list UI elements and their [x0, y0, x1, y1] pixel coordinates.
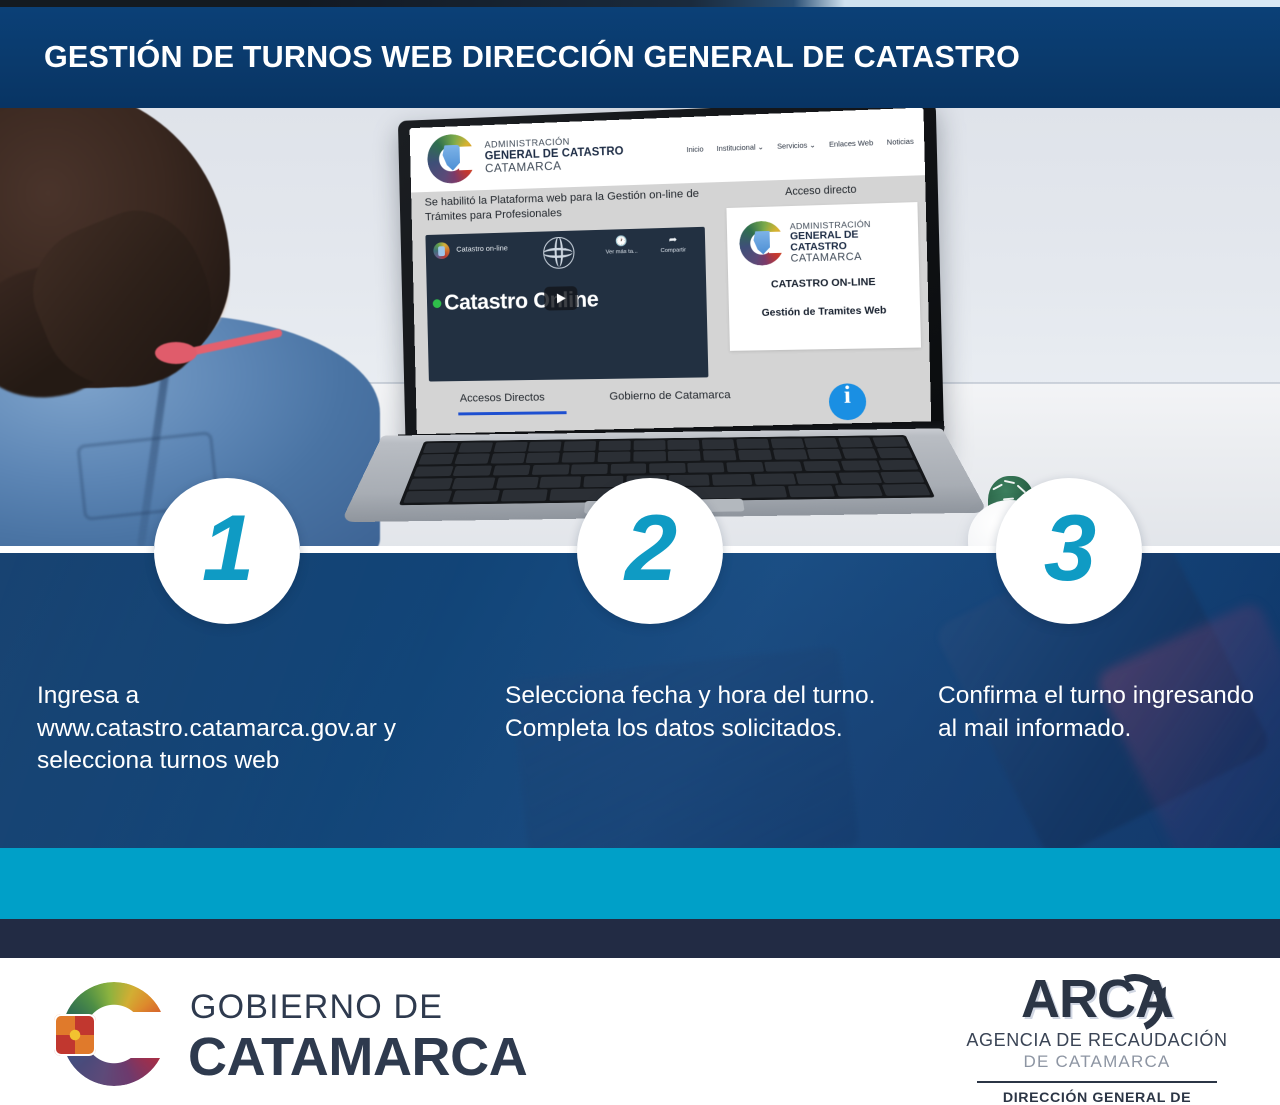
nav-item-noticias[interactable]: Noticias: [887, 137, 914, 147]
green-status-dot-icon: [433, 299, 442, 308]
nav-item-institucional[interactable]: Institucional ⌄: [717, 142, 764, 153]
channel-avatar-icon: [433, 242, 450, 259]
footer: GOBIERNO DE CATAMARCA ARCA AGENCIA DE RE…: [0, 958, 1280, 1105]
acceso-directo-card[interactable]: ADMINISTRACIÓN GENERAL DE CATASTRO CATAM…: [726, 202, 921, 351]
arca-subtitle-2: DE CATAMARCA: [966, 1052, 1228, 1072]
nav-item-enlaces-web[interactable]: Enlaces Web: [829, 138, 873, 149]
navy-band: [0, 919, 1280, 958]
step-circle-1: 1: [154, 478, 300, 624]
step-connector-end: [1142, 546, 1280, 553]
step-text-1: Ingresa a www.catastro.catamarca.gov.ar …: [37, 680, 467, 778]
step-number-1: 1: [202, 501, 252, 595]
card-subtitle: Gestión de Tramites Web: [729, 305, 920, 320]
card-logo-line-3: CATAMARCA: [790, 251, 918, 266]
active-tab-underline: [458, 411, 566, 415]
step-number-3: 3: [1044, 501, 1094, 595]
share-arrow-icon: ➦: [643, 233, 703, 248]
catamarca-c-gap: [128, 1012, 172, 1058]
step-text-2: Selecciona fecha y hora del turno. Compl…: [505, 680, 925, 745]
website-logo-text: ADMINISTRACIÓN GENERAL DE CATASTRO CATAM…: [484, 135, 624, 174]
logo-line-3: CATAMARCA: [485, 157, 624, 174]
website-nav[interactable]: Inicio Institucional ⌄ Servicios ⌄ Enlac…: [686, 137, 913, 155]
share-label: Compartir: [643, 247, 703, 255]
card-title: CATASTRO ON-LINE: [728, 276, 919, 292]
step-circle-2: 2: [577, 478, 723, 624]
step-connector-1-2: [300, 546, 577, 553]
step-circle-3: 3: [996, 478, 1142, 624]
globe-icon: [543, 237, 575, 270]
info-icon[interactable]: [829, 383, 867, 420]
arca-divider: [977, 1081, 1217, 1083]
video-channel-name: Catastro on-line: [456, 243, 508, 253]
glasses-lens: [155, 342, 197, 364]
promo-text: Se habilitó la Plataforma web para la Ge…: [424, 186, 718, 224]
arca-division-label: DIRECCIÓN GENERAL DE CATASTRO: [966, 1090, 1228, 1105]
nav-item-inicio[interactable]: Inicio: [686, 144, 703, 154]
catamarca-pattern-glyph-icon: [54, 1014, 96, 1056]
arca-wordmark: ARCA: [966, 972, 1228, 1026]
panel-prop-book: [510, 646, 859, 848]
card-logo-text: ADMINISTRACIÓN GENERAL DE CATASTRO CATAM…: [790, 218, 919, 265]
footer-link-gobierno-catamarca[interactable]: Gobierno de Catamarca: [609, 389, 731, 403]
video-embed[interactable]: Catastro on-line 🕐 Ver más ta... ➦ Compa…: [425, 227, 708, 382]
page-title: GESTIÓN DE TURNOS WEB DIRECCIÓN GENERAL …: [44, 40, 1020, 75]
title-banner: GESTIÓN DE TURNOS WEB DIRECCIÓN GENERAL …: [0, 7, 1280, 108]
step-number-2: 2: [625, 501, 675, 595]
card-catastro-logo-icon: [739, 220, 787, 266]
gobierno-catamarca-logo: GOBIERNO DE CATAMARCA: [62, 978, 522, 1086]
share-action[interactable]: ➦ Compartir: [643, 233, 703, 255]
pink-glasses: [155, 338, 280, 364]
infographic-page: GESTIÓN DE TURNOS WEB DIRECCIÓN GENERAL …: [0, 0, 1280, 1105]
cyan-band: [0, 848, 1280, 919]
top-edge-strip-left: [0, 0, 300, 7]
step-connector-start: [0, 546, 154, 553]
gobierno-line-2: CATAMARCA: [188, 1026, 527, 1088]
arca-subtitle-1: AGENCIA DE RECAUDACIÓN: [966, 1030, 1228, 1051]
step-text-3: Confirma el turno ingresando al mail inf…: [938, 680, 1268, 745]
video-topbar: Catastro on-line 🕐 Ver más ta... ➦ Compa…: [425, 227, 705, 274]
laptop-screen[interactable]: ADMINISTRACIÓN GENERAL DE CATASTRO CATAM…: [410, 108, 932, 442]
play-button-icon[interactable]: [544, 286, 578, 311]
step-connector-2-3: [723, 546, 996, 553]
acceso-directo-label: Acceso directo: [734, 182, 909, 200]
catastro-logo-icon: [427, 133, 478, 184]
arca-logo: ARCA AGENCIA DE RECAUDACIÓN DE CATAMARCA…: [966, 972, 1228, 1094]
footer-link-accesos-directos[interactable]: Accesos Directos: [460, 392, 545, 405]
nav-item-servicios[interactable]: Servicios ⌄: [777, 140, 816, 151]
gobierno-line-1: GOBIERNO DE: [190, 988, 443, 1027]
